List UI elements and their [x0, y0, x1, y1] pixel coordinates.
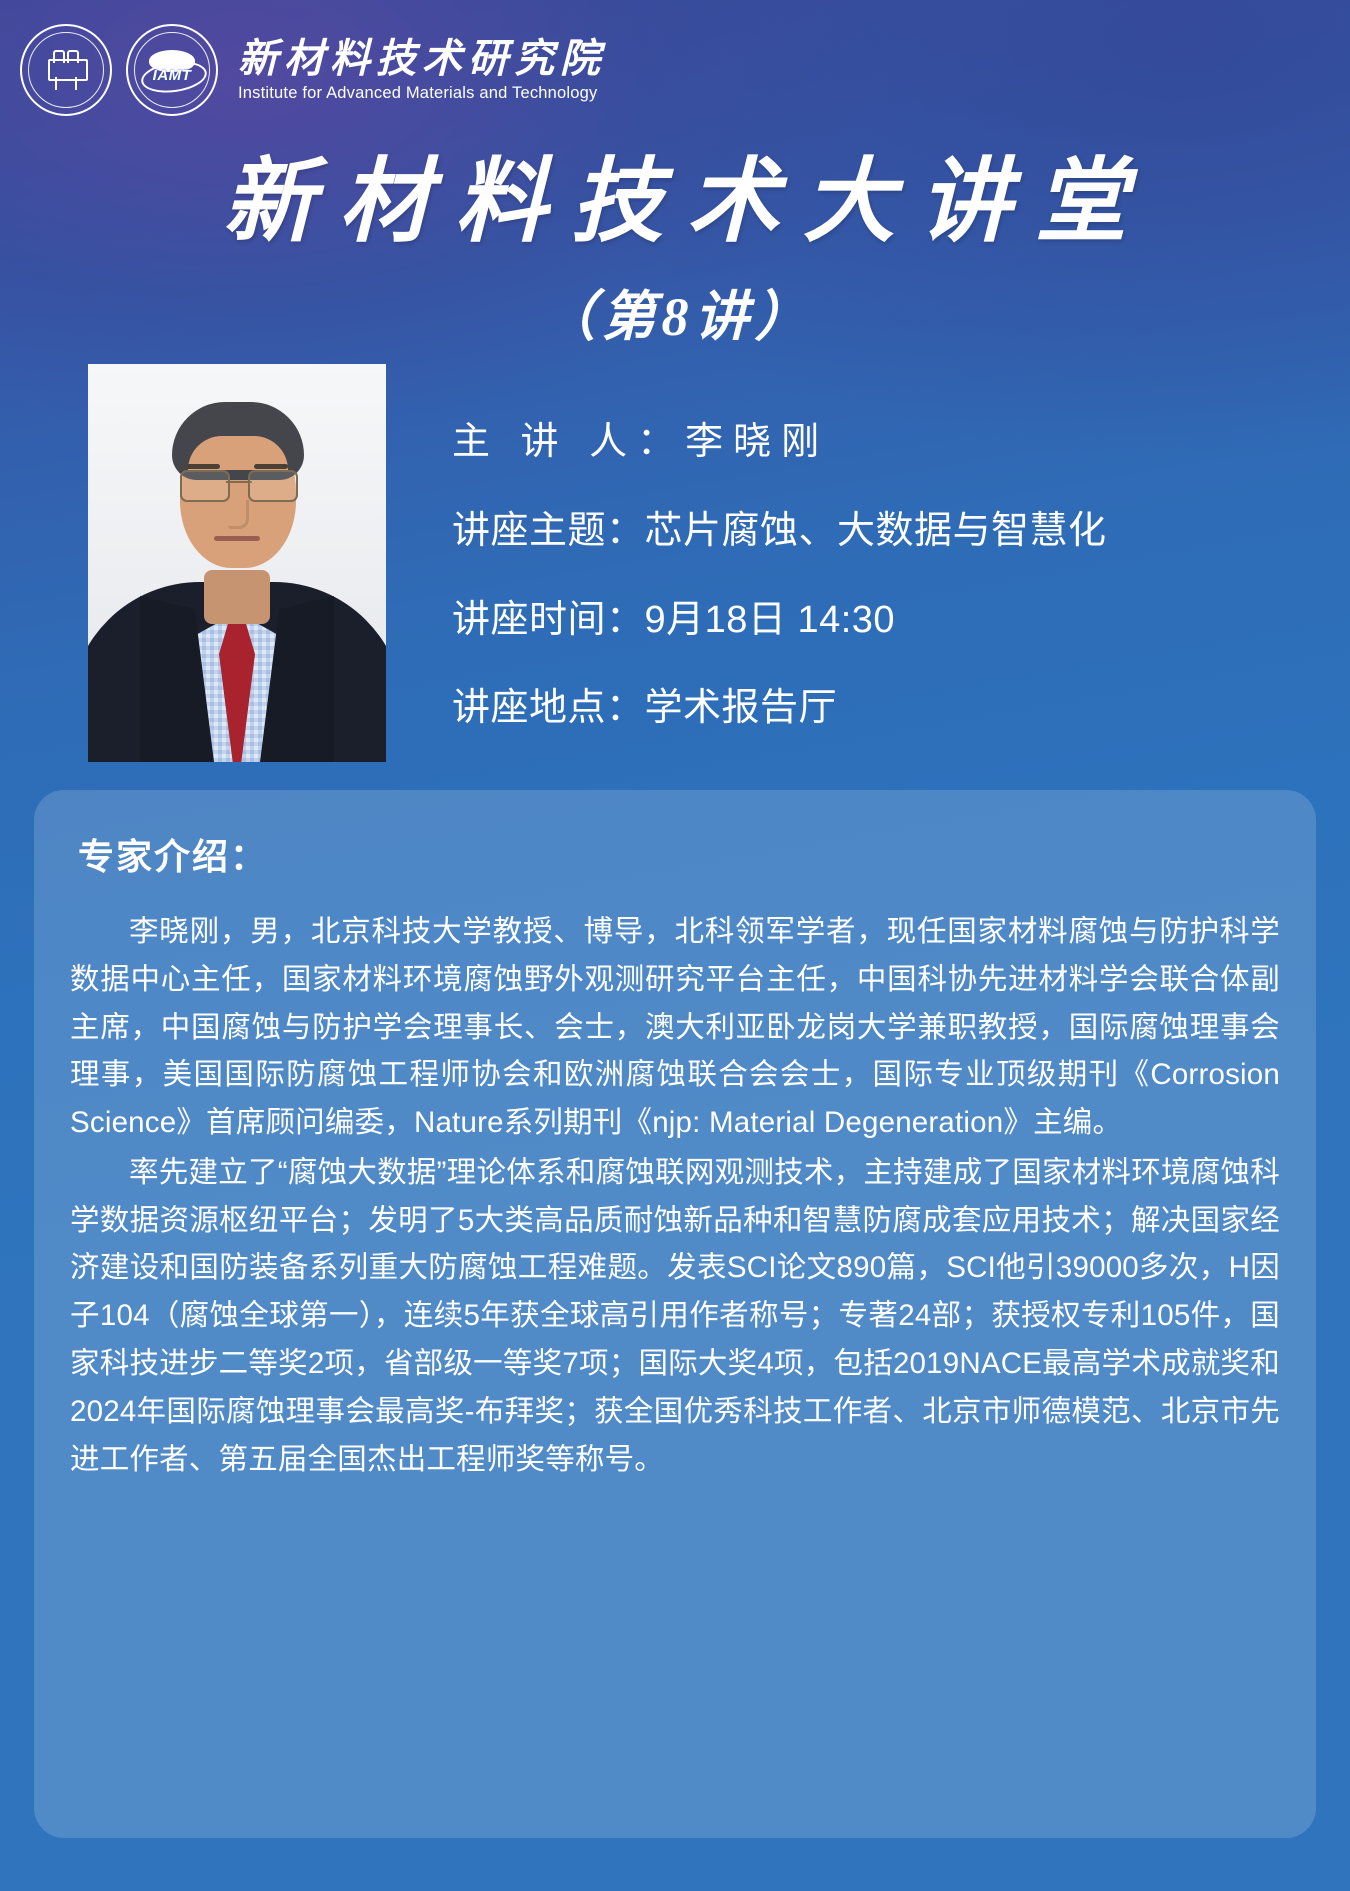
speaker-portrait [88, 364, 386, 762]
iamt-seal-icon: IAMT [126, 24, 218, 116]
eyeglasses-icon [180, 470, 298, 500]
info-venue: 讲座地点：学术报告厅 [452, 686, 1152, 731]
expert-bio-card: 专家介绍： 李晓刚，男，北京科技大学教授、博导，北科领军学者，现任国家材料腐蚀与… [34, 790, 1316, 1838]
lecture-info: 主 讲 人：李晓刚 讲座主题：芯片腐蚀、大数据与智慧化 讲座时间：9月18日 1… [452, 420, 1152, 731]
ustb-seal-icon [20, 24, 112, 116]
info-speaker: 主 讲 人：李晓刚 [452, 420, 1152, 465]
ding-vessel-icon [45, 50, 87, 90]
info-topic: 讲座主题：芯片腐蚀、大数据与智慧化 [452, 509, 1152, 554]
info-time: 讲座时间：9月18日 14:30 [452, 598, 1152, 643]
bio-heading: 专家介绍： [78, 828, 1280, 880]
poster-header: IAMT 新材料技术研究院 Institute for Advanced Mat… [20, 24, 606, 116]
page-subtitle: （第8讲） [0, 272, 1350, 351]
poster-root: IAMT 新材料技术研究院 Institute for Advanced Mat… [0, 0, 1350, 1891]
iamt-mark-label: IAMT [141, 67, 203, 84]
bio-paragraph: 率先建立了“腐蚀大数据”理论体系和腐蚀联网观测技术，主持建成了国家材料环境腐蚀科… [70, 1149, 1280, 1483]
iamt-globe-icon: IAMT [141, 48, 203, 92]
bio-paragraph: 李晓刚，男，北京科技大学教授、博导，北科领军学者，现任国家材料腐蚀与防护科学数据… [70, 908, 1280, 1147]
institute-name-block: 新材料技术研究院 Institute for Advanced Material… [238, 38, 606, 103]
page-title: 新材料技术大讲堂 [0, 152, 1350, 253]
institute-name-en: Institute for Advanced Materials and Tec… [238, 84, 606, 103]
institute-name-cn: 新材料技术研究院 [238, 38, 606, 80]
